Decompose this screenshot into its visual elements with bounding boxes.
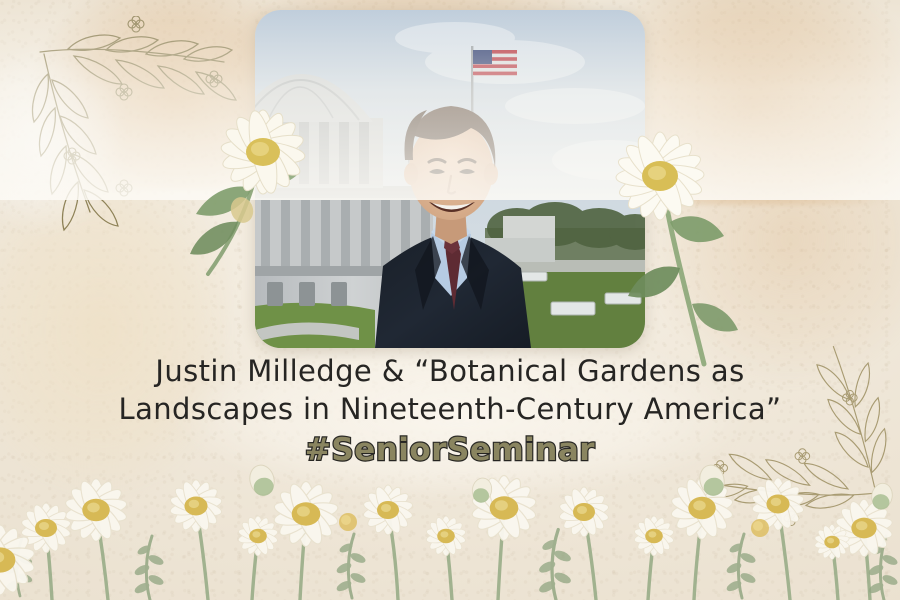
poster-text-block: Justin Milledge & “Botanical Gardens as … <box>0 352 900 468</box>
watercolor-wash-left-white <box>0 30 120 250</box>
leaf-branch-icon <box>28 16 258 246</box>
title-line-1: Justin Milledge & “Botanical Gardens as <box>0 352 900 390</box>
hashtag-text: #SeniorSeminar <box>0 432 900 468</box>
student-photo <box>255 10 645 348</box>
student-photo-image <box>255 10 645 348</box>
watercolor-wash-right <box>640 90 900 390</box>
title-line-2: Landscapes in Nineteenth-Century America… <box>0 390 900 428</box>
poster-canvas: Justin Milledge & “Botanical Gardens as … <box>0 0 900 600</box>
